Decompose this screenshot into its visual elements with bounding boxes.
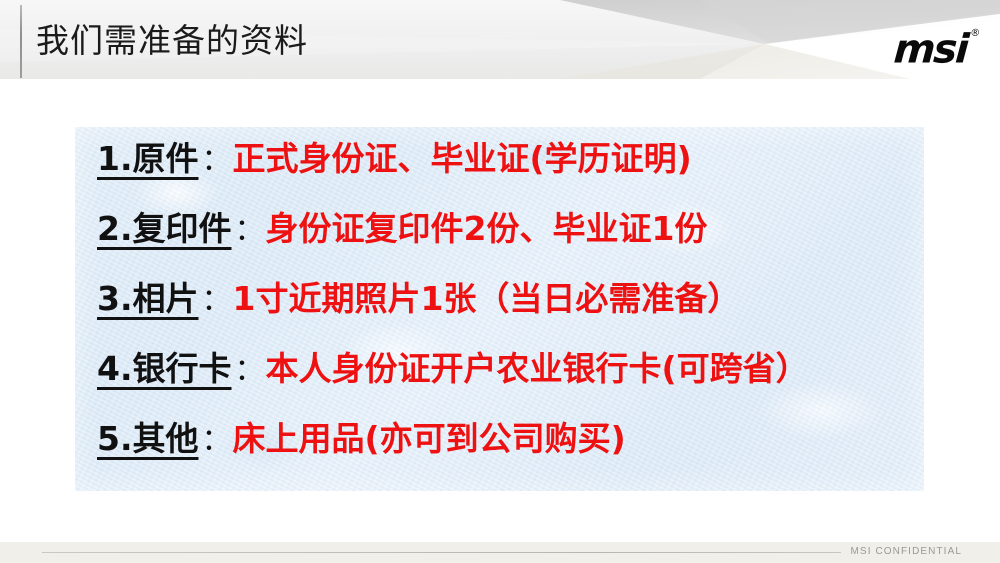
title-accent-bar bbox=[20, 5, 22, 78]
item-value: 身份证复印件2份、毕业证1份 bbox=[266, 211, 708, 247]
page-title: 我们需准备的资料 bbox=[36, 21, 308, 61]
item-value: 本人身份证开户农业银行卡(可跨省） bbox=[266, 351, 809, 387]
confidentiality-notice: MSI CONFIDENTIAL bbox=[841, 543, 963, 561]
item-colon: ： bbox=[232, 213, 266, 249]
item-colon: ： bbox=[232, 353, 266, 389]
msi-logo: msi® bbox=[892, 26, 978, 69]
item-colon: ： bbox=[199, 143, 233, 179]
requirements-list: 1.原件 ： 正式身份证、毕业证(学历证明) 2.复印件 ： 身份证复印件2份、… bbox=[97, 141, 914, 491]
item-label: 2.复印件 bbox=[97, 211, 232, 247]
item-colon: ： bbox=[199, 423, 233, 459]
slide-footer: MSI CONFIDENTIAL bbox=[0, 542, 1000, 563]
item-label: 5.其他 bbox=[97, 421, 199, 457]
list-item: 5.其他 ： 床上用品(亦可到公司购买) bbox=[97, 421, 914, 491]
slide: 我们需准备的资料 msi® 1.原件 ： 正式身份证、毕业证(学历证明) 2.复… bbox=[0, 0, 1000, 563]
list-item: 1.原件 ： 正式身份证、毕业证(学历证明) bbox=[97, 141, 914, 211]
msi-logo-text: msi bbox=[892, 26, 968, 72]
item-value: 1寸近期照片1张（当日必需准备） bbox=[233, 281, 741, 317]
content-panel: 1.原件 ： 正式身份证、毕业证(学历证明) 2.复印件 ： 身份证复印件2份、… bbox=[75, 127, 924, 491]
registered-trademark-icon: ® bbox=[970, 28, 981, 39]
item-label: 3.相片 bbox=[97, 281, 199, 317]
item-label: 1.原件 bbox=[97, 141, 199, 177]
item-colon: ： bbox=[199, 283, 233, 319]
list-item: 3.相片 ： 1寸近期照片1张（当日必需准备） bbox=[97, 281, 914, 351]
list-item: 4.银行卡 ： 本人身份证开户农业银行卡(可跨省） bbox=[97, 351, 914, 421]
item-value: 床上用品(亦可到公司购买) bbox=[233, 421, 626, 457]
item-label: 4.银行卡 bbox=[97, 351, 232, 387]
footer-divider bbox=[42, 552, 962, 553]
item-value: 正式身份证、毕业证(学历证明) bbox=[233, 141, 692, 177]
list-item: 2.复印件 ： 身份证复印件2份、毕业证1份 bbox=[97, 211, 914, 281]
slide-header: 我们需准备的资料 msi® bbox=[0, 0, 1000, 79]
